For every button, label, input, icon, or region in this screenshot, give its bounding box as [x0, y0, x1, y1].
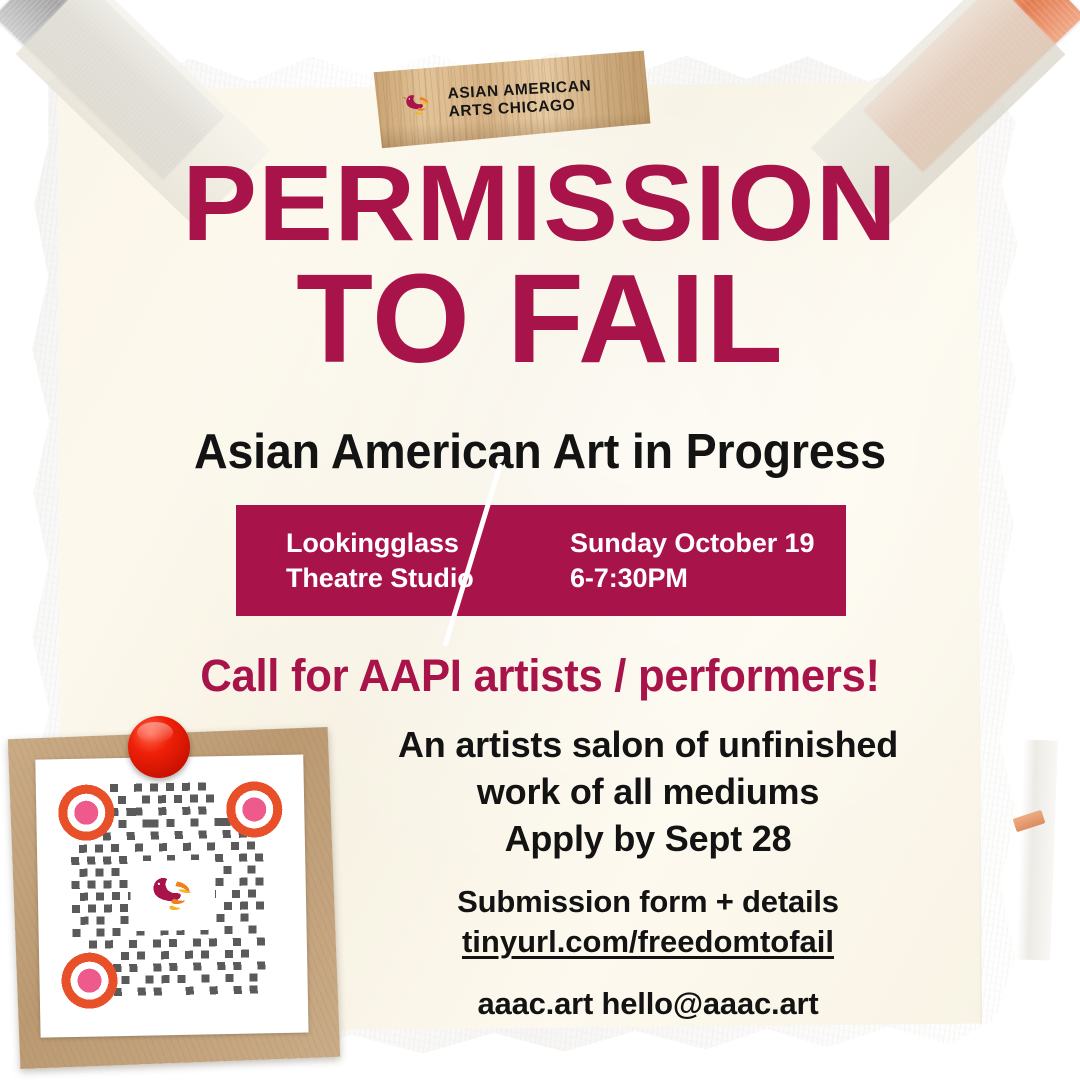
description-text: An artists salon of unfinished work of a… — [348, 722, 948, 862]
contact-info: aaac.art hello@aaac.art — [348, 984, 948, 1024]
org-name: ASIAN AMERICAN ARTS CHICAGO — [447, 77, 593, 121]
tape-sheer-bottom-right — [1016, 739, 1058, 960]
headline-line-2: TO FAIL — [0, 260, 1080, 378]
pushpin-icon — [128, 716, 190, 778]
submission-label: Submission form + details — [348, 882, 948, 922]
qr-card[interactable] — [8, 727, 340, 1069]
submission-url-link[interactable]: tinyurl.com/freedomtofail — [348, 922, 948, 962]
qr-code[interactable] — [46, 767, 299, 1024]
headline: PERMISSION TO FAIL — [0, 152, 1080, 378]
body-text-block: An artists salon of unfinished work of a… — [348, 722, 948, 1023]
subtitle: Asian American Art in Progress — [27, 424, 1053, 480]
info-band: Lookingglass Theatre Studio Sunday Octob… — [236, 505, 846, 616]
phoenix-icon — [130, 860, 216, 932]
headline-line-1: PERMISSION — [0, 152, 1080, 254]
venue-text: Lookingglass Theatre Studio — [286, 526, 536, 594]
poster-canvas: ASIAN AMERICAN ARTS CHICAGO PERMISSION T… — [0, 0, 1080, 1080]
qr-paper — [35, 755, 308, 1038]
datetime-text: Sunday October 19 6-7:30PM — [570, 526, 814, 594]
call-for-artists: Call for AAPI artists / performers! — [16, 650, 1064, 702]
phoenix-icon — [397, 87, 439, 123]
